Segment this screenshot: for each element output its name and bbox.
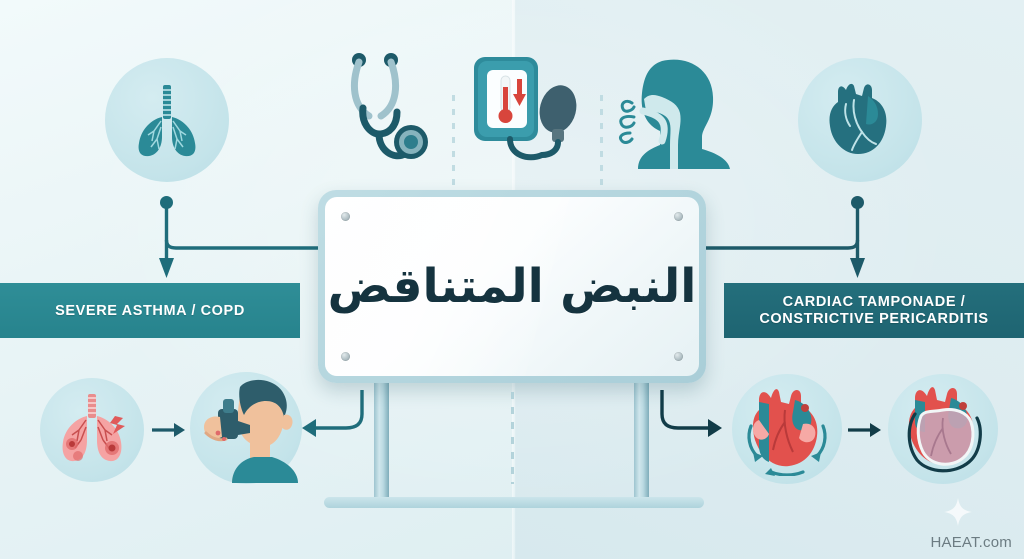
sparkle-icon xyxy=(944,498,972,526)
compressed-heart-glyph xyxy=(741,382,833,476)
constricted-pericardium-icon xyxy=(888,374,998,484)
airway-breathing-icon xyxy=(614,52,738,170)
inflamed-lungs-icon xyxy=(40,378,144,482)
watermark-text: HAEAT.com xyxy=(930,534,1012,551)
banner-left-label: SEVERE ASTHMA / COPD xyxy=(55,303,245,319)
icon-separator-dashed-2 xyxy=(600,95,603,191)
banner-right: CARDIAC TAMPONADE / CONSTRICTIVE PERICAR… xyxy=(724,283,1024,338)
connector-right-path xyxy=(694,200,874,290)
inflamed-lungs-glyph xyxy=(53,392,131,468)
inhaler-patient-icon xyxy=(190,372,302,484)
sign-screw-top-left xyxy=(341,212,350,221)
anatomical-heart-icon xyxy=(798,58,922,182)
banner-right-line1: CARDIAC TAMPONADE / xyxy=(783,294,966,311)
connector-right-lower xyxy=(654,388,724,444)
heart-anatomical-glyph xyxy=(824,80,896,160)
sign-post-right xyxy=(634,380,649,500)
bp-monitor-glyph xyxy=(470,51,582,171)
sign-board: النبض المتناقض xyxy=(318,190,706,383)
sign-screw-top-right xyxy=(674,212,683,221)
airway-glyph xyxy=(616,53,736,169)
sign-base-bar xyxy=(324,497,704,508)
constricted-pericardium-glyph xyxy=(897,382,989,476)
compressed-heart-icon xyxy=(732,374,842,484)
connector-left-path xyxy=(150,200,330,290)
arrow-right-icon-bottom-left xyxy=(150,420,186,440)
sign-screw-bottom-right xyxy=(674,352,683,361)
stethoscope-icon xyxy=(330,48,434,173)
lungs-outline-icon xyxy=(105,58,229,182)
connector-left-lower xyxy=(300,388,370,444)
banner-left: SEVERE ASTHMA / COPD xyxy=(0,283,300,338)
sign-screw-bottom-left xyxy=(341,352,350,361)
center-dashed-divider xyxy=(511,392,514,484)
sign-title: النبض المتناقض xyxy=(328,259,697,314)
banner-right-line2: CONSTRICTIVE PERICARDITIS xyxy=(759,311,988,328)
infographic-canvas: SEVERE ASTHMA / COPD CARDIAC TAMPONADE /… xyxy=(0,0,1024,559)
icon-separator-dashed xyxy=(452,95,455,191)
stethoscope-glyph xyxy=(333,50,431,172)
sign-face: النبض المتناقض xyxy=(325,197,699,376)
inhaler-patient-glyph xyxy=(192,373,300,483)
blood-pressure-monitor-icon xyxy=(468,50,584,172)
sign-post-left xyxy=(374,380,389,500)
arrow-right-icon-bottom-right xyxy=(846,420,882,440)
lungs-outline-glyph xyxy=(130,81,204,159)
